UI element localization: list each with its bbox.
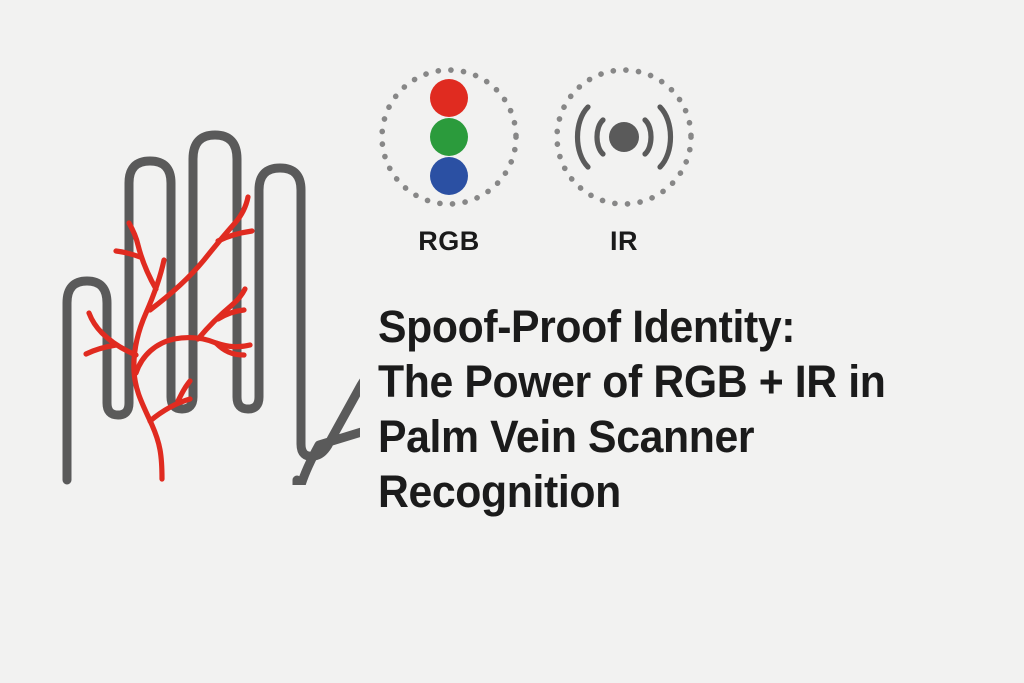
ir-emitter-dot (609, 122, 639, 152)
headline-line-3: Palm Vein Scanner (378, 410, 948, 465)
red-dot (430, 79, 468, 117)
headline-line-4: Recognition (378, 465, 948, 520)
page-title: Spoof-Proof Identity: The Power of RGB +… (378, 300, 948, 520)
hand-outline-path (67, 135, 360, 485)
headline-line-1: Spoof-Proof Identity: (378, 300, 948, 355)
slide-canvas: RGB (0, 0, 1024, 683)
headline-line-2: The Power of RGB + IR in (378, 355, 948, 410)
sensor-label-ir: IR (549, 226, 699, 257)
blue-dot (430, 157, 468, 195)
palm-vein-illustration (30, 55, 360, 485)
sensor-badge-ir[interactable]: IR (549, 62, 699, 257)
ir-signal-icon (574, 91, 674, 183)
ir-dotted-ring (549, 62, 699, 212)
rgb-dotted-ring (374, 62, 524, 212)
sensor-badges: RGB (372, 62, 712, 272)
sensor-label-rgb: RGB (374, 226, 524, 257)
sensor-badge-rgb[interactable]: RGB (374, 62, 524, 257)
green-dot (430, 118, 468, 156)
rgb-dots-icon (374, 62, 524, 212)
